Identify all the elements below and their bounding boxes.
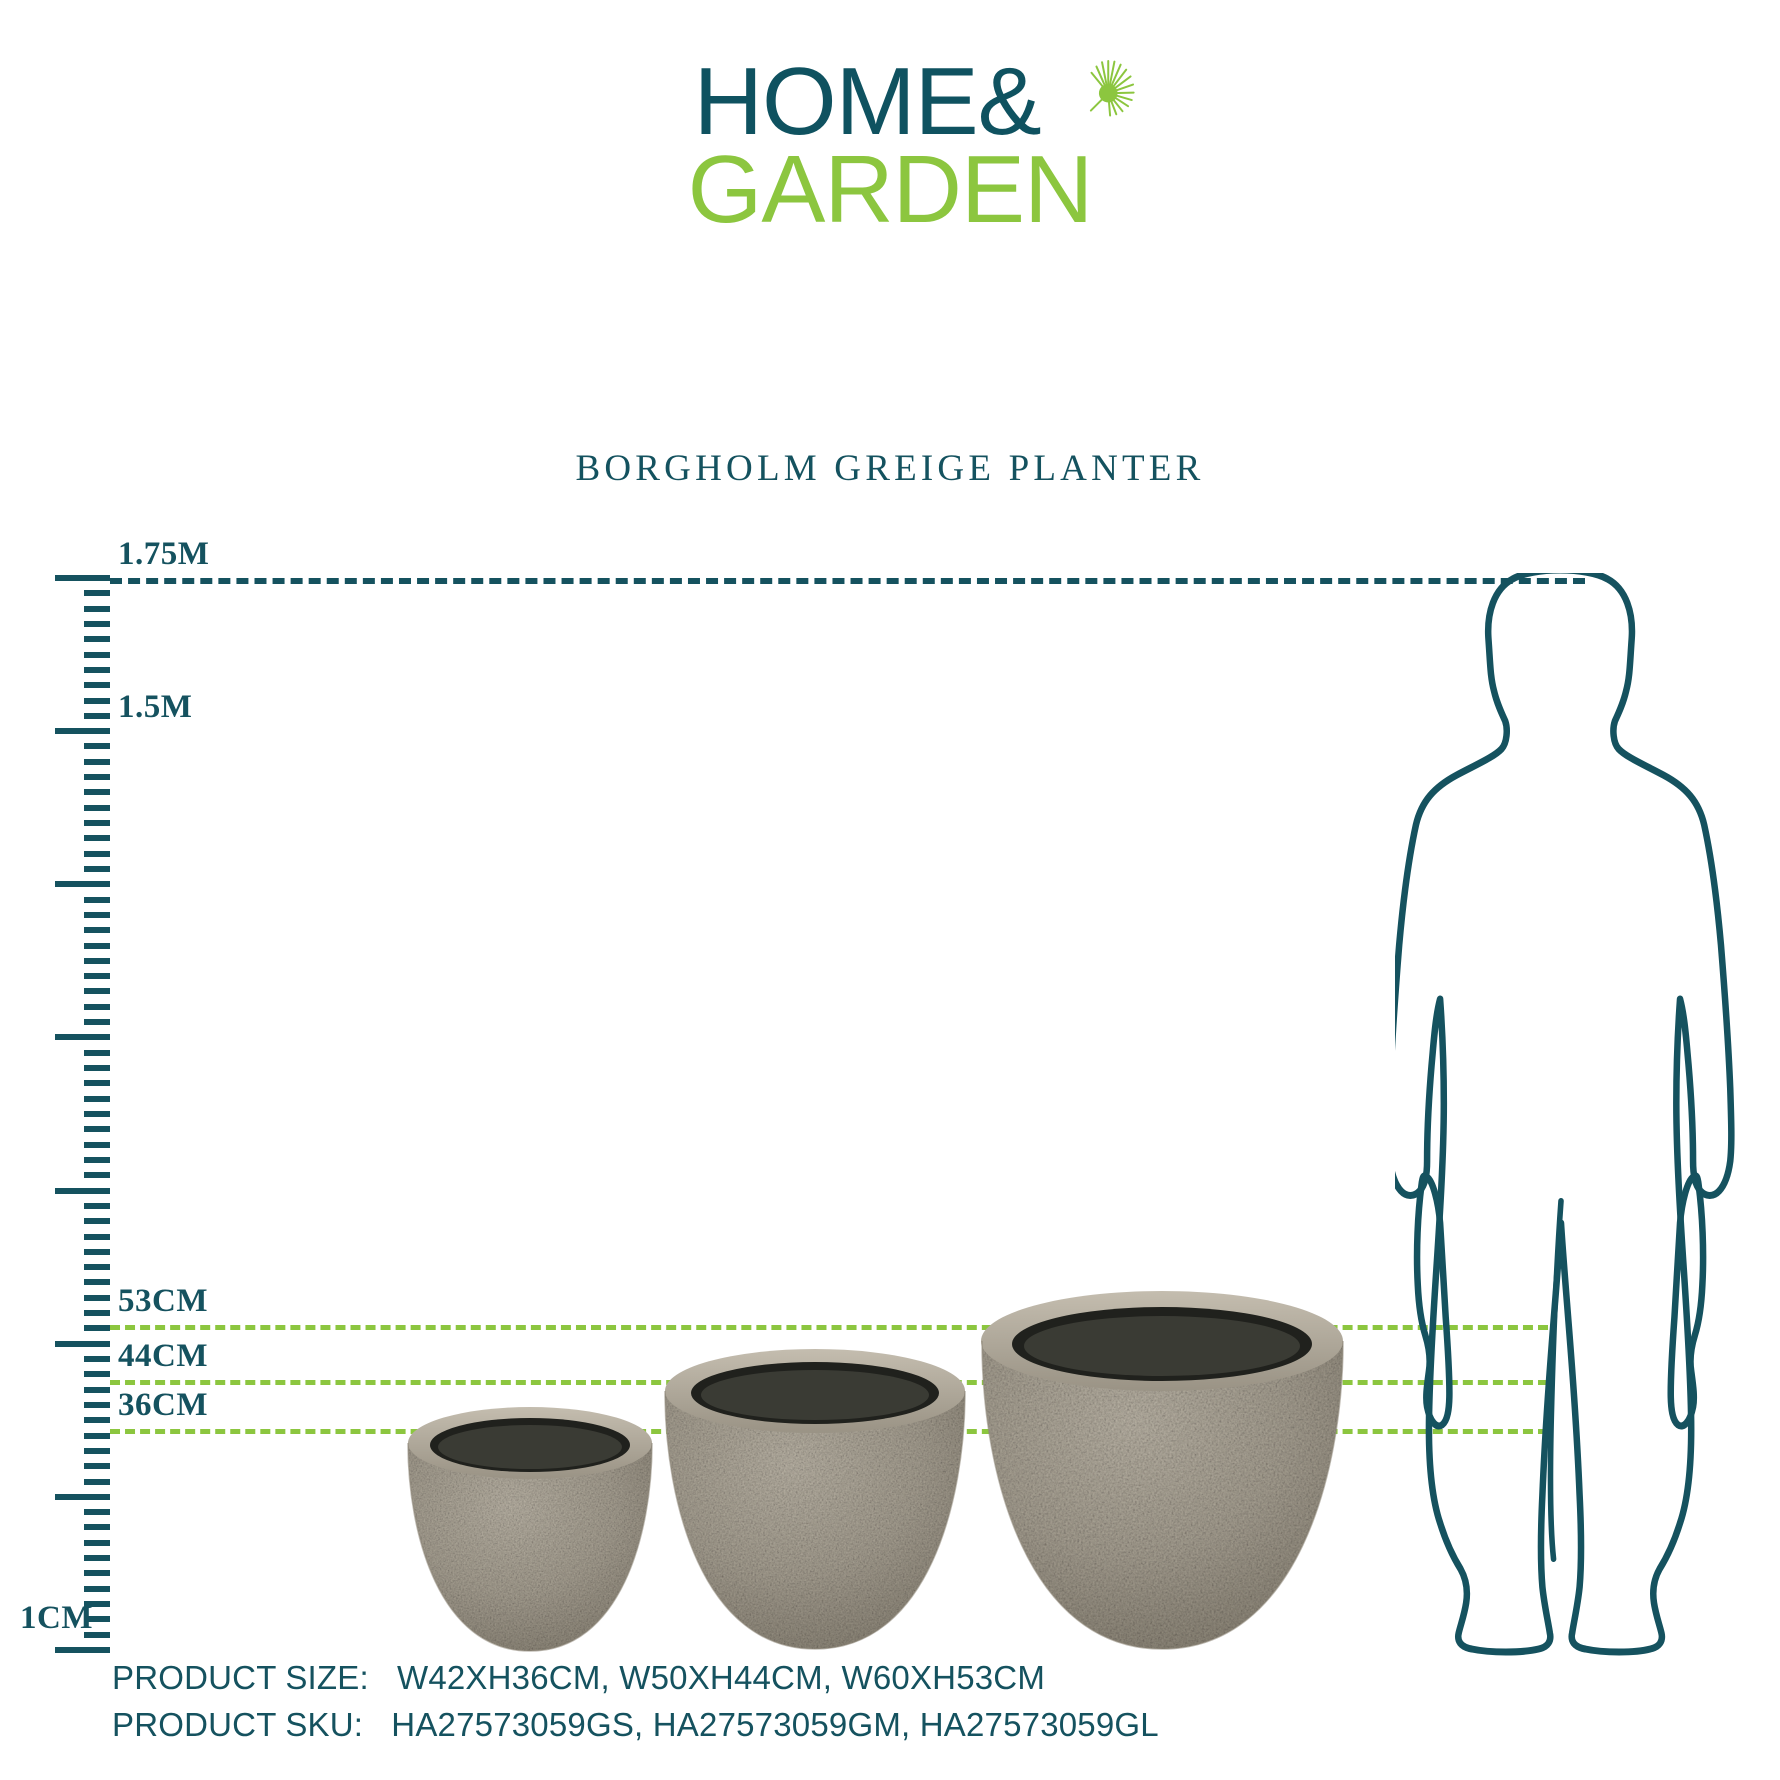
ruler-tick-minor xyxy=(84,1065,110,1071)
palm-fan-icon xyxy=(1076,56,1138,118)
ruler-tick-minor xyxy=(84,973,110,979)
page-title: BORGHOLM GREIGE PLANTER xyxy=(0,447,1780,490)
ruler-tick-minor xyxy=(84,636,110,642)
ruler-tick-major xyxy=(55,575,110,581)
ruler-tick-minor xyxy=(84,851,110,857)
ruler-tick-minor xyxy=(84,805,110,811)
measurement-ruler xyxy=(0,0,260,1780)
ruler-tick-minor xyxy=(84,1310,110,1316)
ruler-tick-minor xyxy=(84,667,110,673)
scale-label-1cm: 1CM xyxy=(20,1600,93,1637)
ruler-tick-minor xyxy=(84,621,110,627)
ruler-tick-minor xyxy=(84,897,110,903)
ruler-tick-minor xyxy=(84,1050,110,1056)
ruler-tick-minor xyxy=(84,1463,110,1469)
ruler-tick-major xyxy=(55,1341,110,1347)
ruler-tick-minor xyxy=(84,606,110,612)
ruler-tick-minor xyxy=(84,1279,110,1285)
ruler-tick-minor xyxy=(84,1448,110,1454)
ruler-tick-minor xyxy=(84,1387,110,1393)
ruler-tick-minor xyxy=(84,1555,110,1561)
ruler-tick-minor xyxy=(84,1249,110,1255)
ruler-tick-minor xyxy=(84,1203,110,1209)
ruler-tick-minor xyxy=(84,1540,110,1546)
ruler-tick-minor xyxy=(84,1142,110,1148)
ruler-tick-minor xyxy=(84,1264,110,1270)
scale-label-53cm: 53CM xyxy=(118,1283,208,1320)
ruler-tick-minor xyxy=(84,1080,110,1086)
ruler-tick-minor xyxy=(84,1524,110,1530)
ruler-tick-minor xyxy=(84,1111,110,1117)
ruler-tick-minor xyxy=(84,1234,110,1240)
ruler-tick-minor xyxy=(84,652,110,658)
footer-text-block: PRODUCT SIZE: W42XH36CM, W50XH44CM, W60X… xyxy=(112,1655,1612,1749)
ruler-tick-major xyxy=(55,1034,110,1040)
product-sku-label: PRODUCT SKU: xyxy=(112,1706,363,1743)
brand-name-garden: GARDEN xyxy=(688,146,1093,234)
scale-label-1.5m: 1.5M xyxy=(118,689,192,726)
ruler-tick-major xyxy=(55,881,110,887)
product-size-label: PRODUCT SIZE: xyxy=(112,1659,369,1696)
ruler-tick-minor xyxy=(84,1325,110,1331)
ruler-tick-minor xyxy=(84,835,110,841)
ruler-tick-minor xyxy=(84,1218,110,1224)
ruler-tick-minor xyxy=(84,1371,110,1377)
ruler-tick-minor xyxy=(84,866,110,872)
ruler-tick-minor xyxy=(84,1126,110,1132)
brand-logo: HOME& GARDEN xyxy=(0,58,1780,235)
ruler-tick-minor xyxy=(84,912,110,918)
ruler-tick-minor xyxy=(84,1356,110,1362)
ruler-tick-minor xyxy=(84,682,110,688)
ruler-tick-minor xyxy=(84,1157,110,1163)
ruler-tick-minor xyxy=(84,927,110,933)
ruler-tick-major xyxy=(55,728,110,734)
brand-name-home: HOME& xyxy=(688,58,1093,146)
ruler-tick-minor xyxy=(84,1402,110,1408)
ruler-tick-minor xyxy=(84,958,110,964)
ruler-tick-major xyxy=(55,1647,110,1653)
ruler-tick-minor xyxy=(84,1417,110,1423)
ruler-tick-minor xyxy=(84,789,110,795)
ruler-tick-minor xyxy=(84,698,110,704)
size-chart-canvas: HOME& GARDEN xyxy=(0,0,1780,1780)
ruler-tick-minor xyxy=(84,943,110,949)
ruler-tick-minor xyxy=(84,988,110,994)
ruler-tick-minor xyxy=(84,759,110,765)
human-silhouette xyxy=(1395,573,1755,1658)
product-size-value: W42XH36CM, W50XH44CM, W60XH53CM xyxy=(397,1659,1045,1696)
ruler-tick-minor xyxy=(84,1479,110,1485)
ruler-tick-minor xyxy=(84,1019,110,1025)
ruler-tick-minor xyxy=(84,713,110,719)
ruler-tick-minor xyxy=(84,1433,110,1439)
ruler-tick-minor xyxy=(84,1172,110,1178)
scale-label-1.75m: 1.75M xyxy=(118,536,209,573)
product-sku-value: HA27573059GS, HA27573059GM, HA27573059GL xyxy=(391,1706,1159,1743)
ruler-tick-major xyxy=(55,1494,110,1500)
ruler-tick-minor xyxy=(84,1570,110,1576)
scale-label-36cm: 36CM xyxy=(118,1387,208,1424)
planter-large[interactable] xyxy=(970,1275,1355,1658)
ruler-tick-minor xyxy=(84,820,110,826)
planter-small[interactable] xyxy=(400,1395,660,1657)
ruler-tick-minor xyxy=(84,1509,110,1515)
ruler-tick-major xyxy=(55,1188,110,1194)
ruler-tick-minor xyxy=(84,590,110,596)
ruler-tick-minor xyxy=(84,1004,110,1010)
ruler-tick-minor xyxy=(84,1295,110,1301)
ruler-tick-minor xyxy=(84,774,110,780)
ruler-tick-minor xyxy=(84,1586,110,1592)
brand-logo-inner: HOME& GARDEN xyxy=(688,58,1093,235)
reference-line-1.75m xyxy=(110,578,1585,584)
ruler-tick-minor xyxy=(84,743,110,749)
product-sku-line: PRODUCT SKU: HA27573059GS, HA27573059GM,… xyxy=(112,1702,1612,1749)
scale-label-44cm: 44CM xyxy=(118,1338,208,1375)
ruler-tick-minor xyxy=(84,1096,110,1102)
planter-medium[interactable] xyxy=(655,1335,975,1657)
product-size-line: PRODUCT SIZE: W42XH36CM, W50XH44CM, W60X… xyxy=(112,1655,1612,1702)
